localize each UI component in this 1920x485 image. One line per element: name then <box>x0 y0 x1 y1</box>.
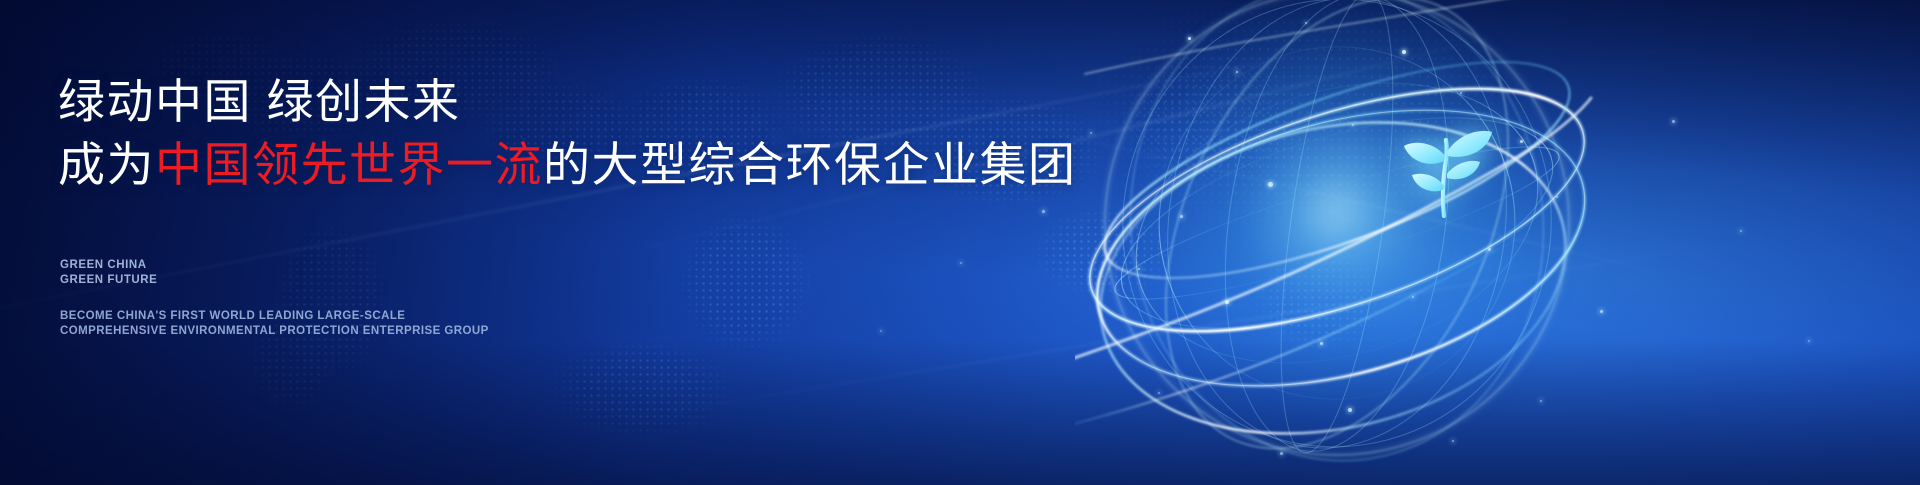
subtitle-en-line-1: GREEN CHINA <box>60 258 157 273</box>
sprout-icon <box>1388 112 1500 224</box>
tagline-en-line-2: COMPREHENSIVE ENVIRONMENTAL PROTECTION E… <box>60 324 489 339</box>
subtitle-en-block: GREEN CHINA GREEN FUTURE <box>60 258 157 287</box>
subtitle-en-line-2: GREEN FUTURE <box>60 273 157 288</box>
headline-line-2-highlight: 中国领先世界一流 <box>155 138 543 191</box>
tagline-en-block: BECOME CHINA'S FIRST WORLD LEADING LARGE… <box>60 309 489 338</box>
banner-text-content: 绿动中国 绿创未来 成为中国领先世界一流的大型综合环保企业集团 GREEN CH… <box>58 0 1058 485</box>
headline-line-2-prefix: 成为 <box>58 138 155 191</box>
headline-line-1: 绿动中国 绿创未来 <box>58 74 1077 130</box>
tagline-en-line-1: BECOME CHINA'S FIRST WORLD LEADING LARGE… <box>60 309 489 324</box>
headline-line-2-suffix: 的大型综合环保企业集团 <box>543 138 1077 191</box>
hero-banner: 绿动中国 绿创未来 成为中国领先世界一流的大型综合环保企业集团 GREEN CH… <box>0 0 1920 485</box>
headline-block: 绿动中国 绿创未来 成为中国领先世界一流的大型综合环保企业集团 <box>58 74 1077 193</box>
headline-line-2: 成为中国领先世界一流的大型综合环保企业集团 <box>58 137 1077 193</box>
